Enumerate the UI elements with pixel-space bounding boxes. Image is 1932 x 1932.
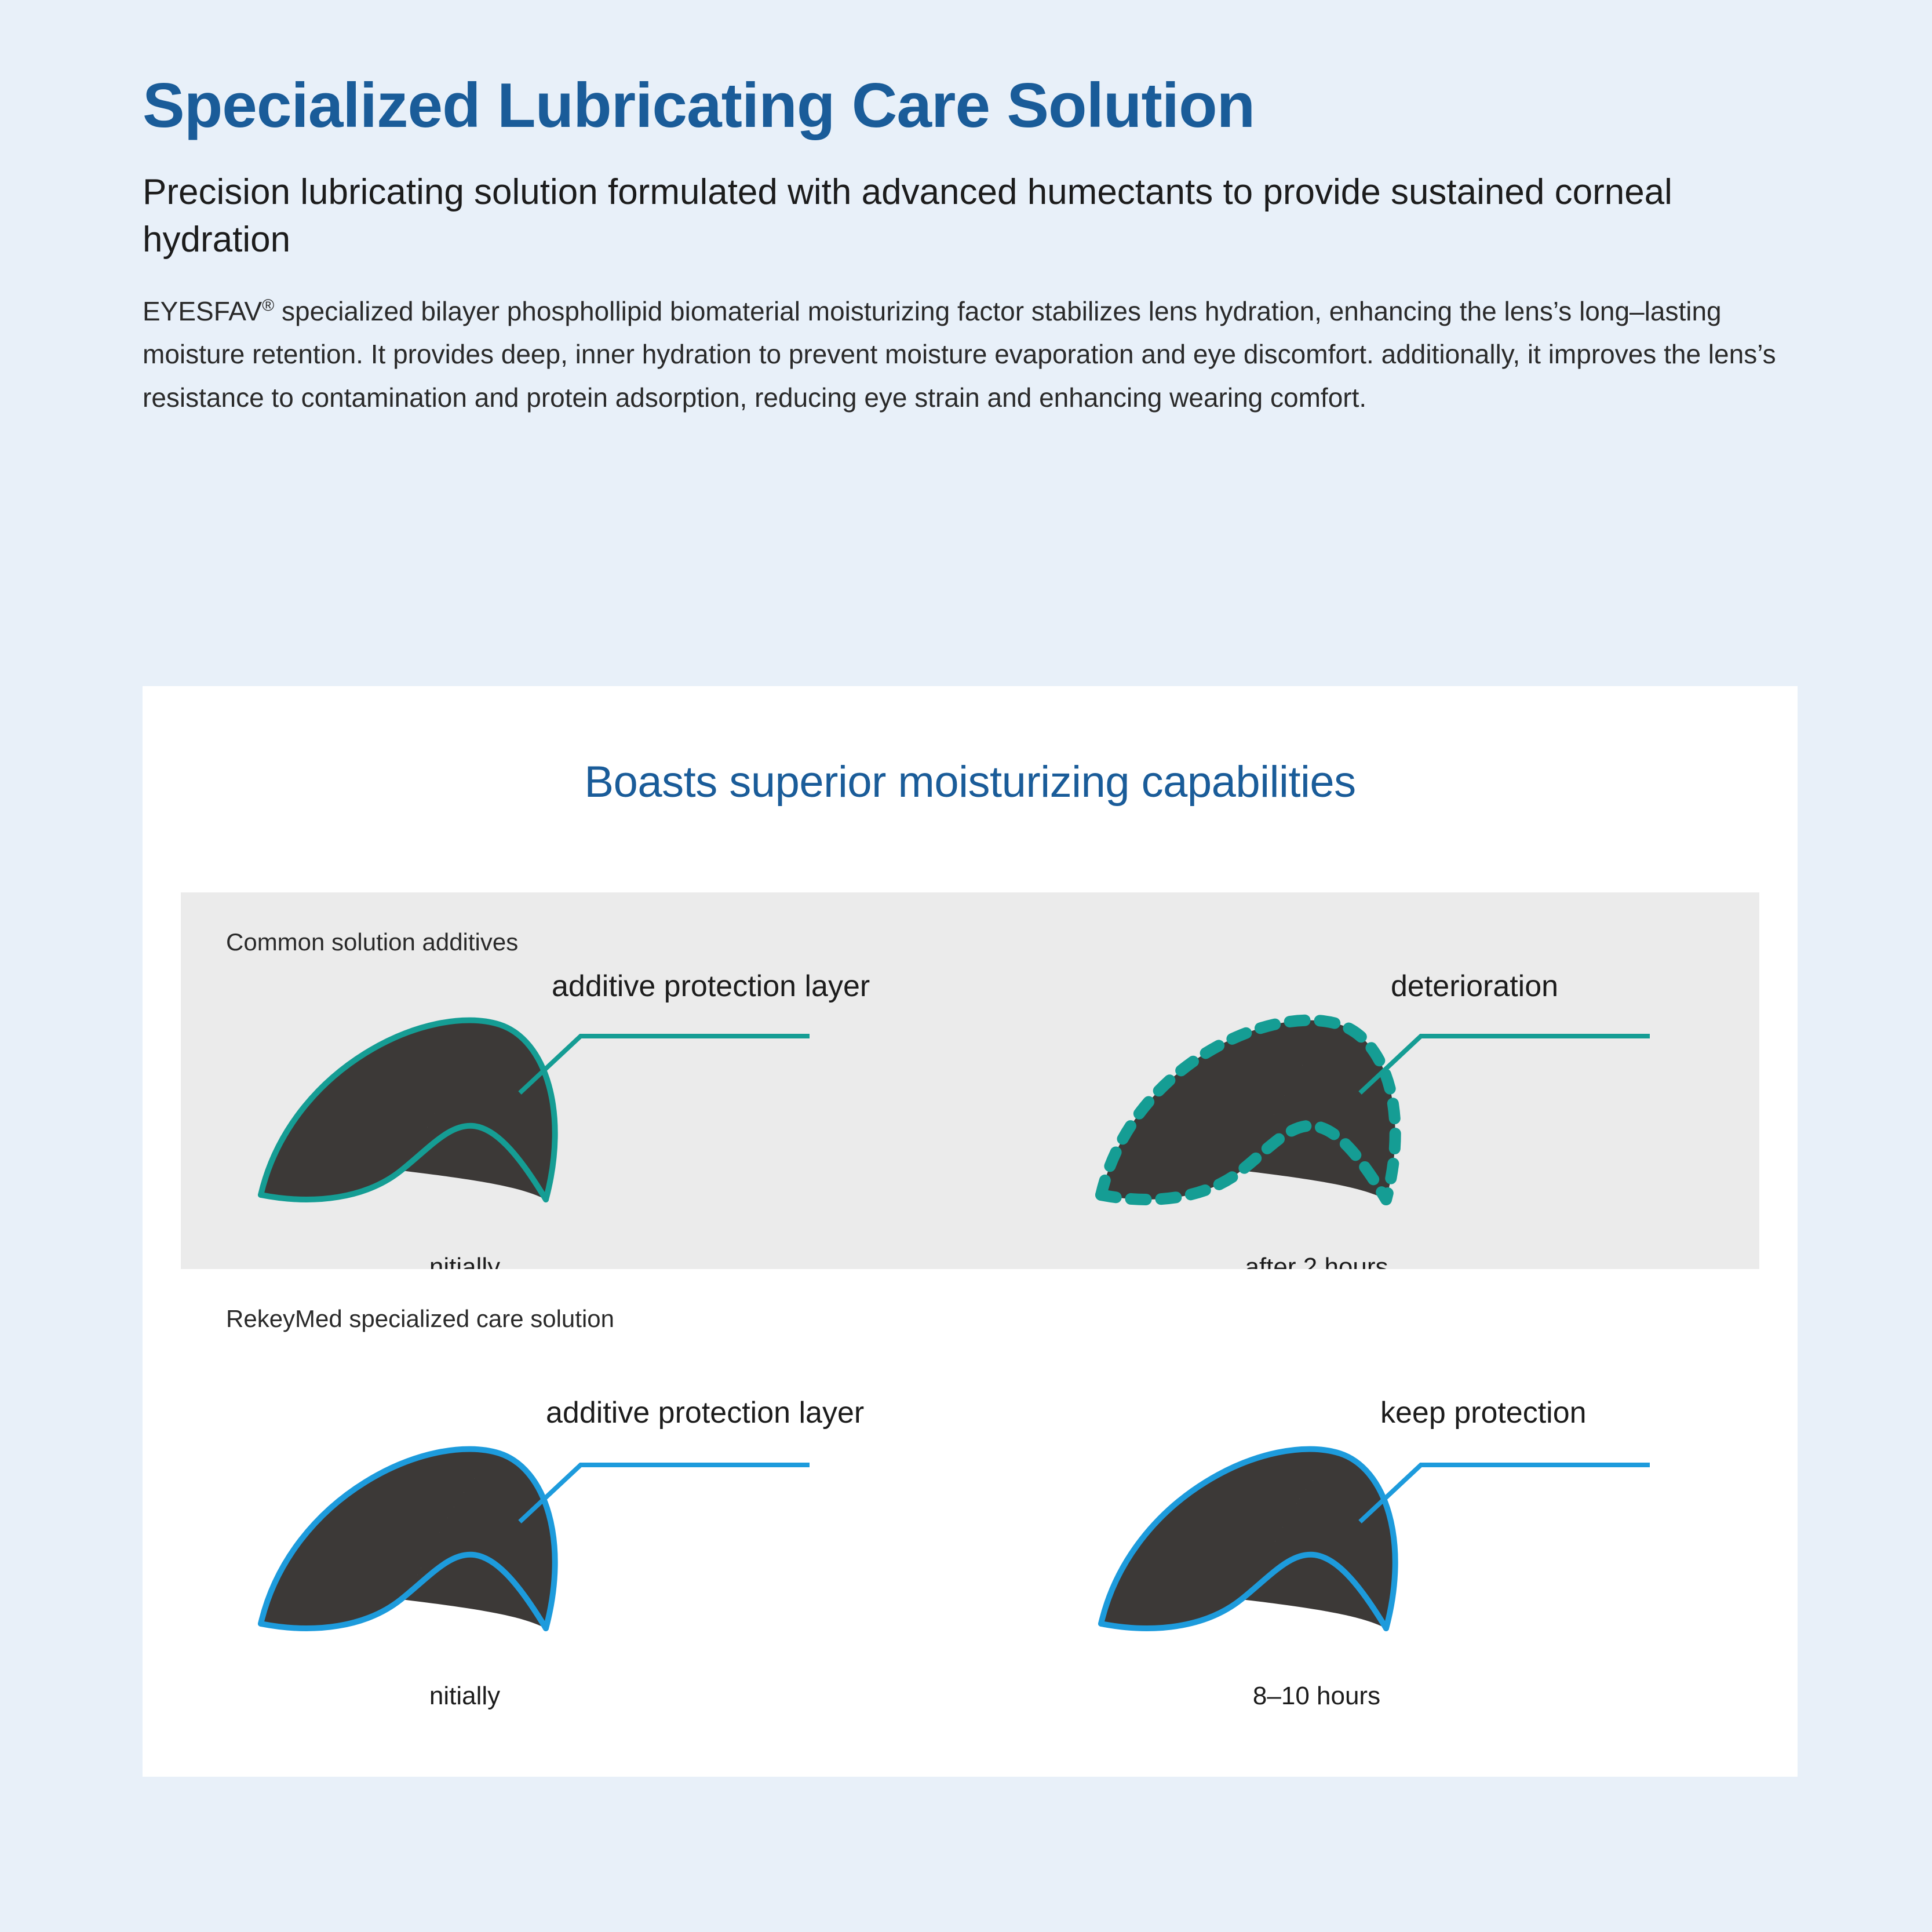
panel-common-solution: Common solution additives additive prote… bbox=[181, 892, 1759, 1271]
figure-common-after-2-hours: deterioration after 2 hours bbox=[1096, 979, 1711, 1246]
callout-label-keep-protection: keep protection bbox=[1380, 1395, 1587, 1430]
figure-common-initially: additive protection layer nitially bbox=[256, 979, 870, 1246]
callout-label-additive-protection-layer: additive protection layer bbox=[552, 969, 870, 1004]
body-paragraph-text: specialized bilayer phosphollipid biomat… bbox=[143, 296, 1776, 413]
callout-leader-line bbox=[1360, 1036, 1650, 1093]
infographic-page: Specialized Lubricating Care Solution Pr… bbox=[0, 0, 1932, 1932]
lens-diagram-deteriorated-teal bbox=[1096, 979, 1711, 1246]
card-title: Boasts superior moisturizing capabilitie… bbox=[143, 757, 1798, 807]
callout-label-additive-protection-layer: additive protection layer bbox=[546, 1395, 864, 1430]
callout-leader-line bbox=[520, 1465, 810, 1522]
lens-diagram-protected-blue bbox=[1096, 1408, 1711, 1675]
figure-caption-initially: nitially bbox=[256, 1682, 673, 1711]
lens-diagram-initial-teal bbox=[256, 979, 870, 1246]
page-subtitle: Precision lubricating solution formulate… bbox=[143, 169, 1806, 264]
callout-leader-line bbox=[1360, 1465, 1650, 1522]
body-paragraph: EYESFAV® specialized bilayer phosphollip… bbox=[143, 290, 1811, 420]
panel-label-common: Common solution additives bbox=[226, 928, 518, 956]
panel-label-rekeymed: RekeyMed specialized care solution bbox=[226, 1305, 614, 1333]
figure-caption-8-10-hours: 8–10 hours bbox=[1096, 1682, 1537, 1711]
header-block: Specialized Lubricating Care Solution Pr… bbox=[143, 68, 1817, 419]
figure-rekeymed-8-10-hours: keep protection 8–10 hours bbox=[1096, 1408, 1711, 1675]
callout-leader-line bbox=[520, 1036, 810, 1093]
callout-label-deterioration: deterioration bbox=[1391, 969, 1558, 1004]
lens-diagram-initial-blue bbox=[256, 1408, 870, 1675]
comparison-card: Boasts superior moisturizing capabilitie… bbox=[143, 686, 1798, 1777]
registered-trademark-icon: ® bbox=[262, 296, 274, 315]
page-title: Specialized Lubricating Care Solution bbox=[143, 68, 1817, 143]
figure-rekeymed-initially: additive protection layer nitially bbox=[256, 1408, 870, 1675]
brand-name: EYESFAV bbox=[143, 296, 262, 326]
panel-rekeymed-solution: RekeyMed specialized care solution addit… bbox=[181, 1269, 1759, 1709]
